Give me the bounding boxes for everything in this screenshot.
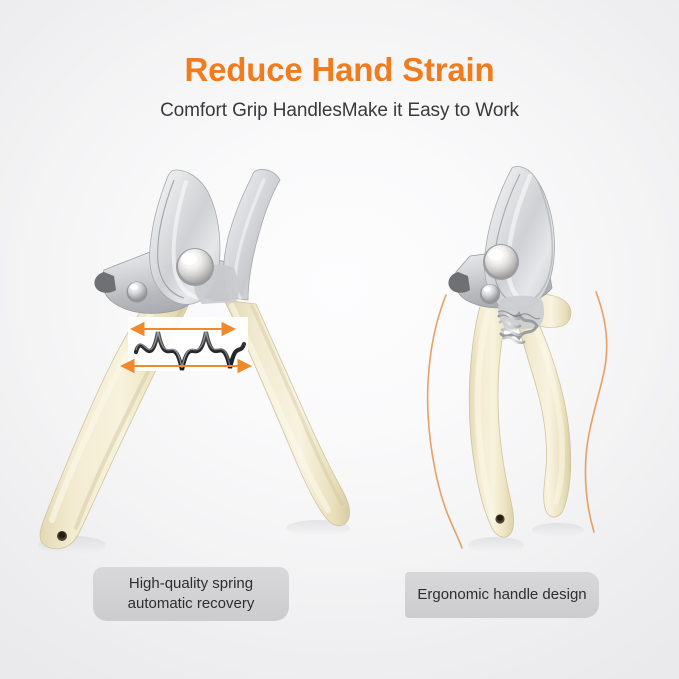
handle-right-lower <box>224 300 350 526</box>
shadow-closed-right <box>532 523 584 537</box>
page-title: Reduce Hand Strain <box>0 52 679 88</box>
spring-expanded <box>136 331 244 370</box>
contour-curve-left <box>428 295 462 548</box>
closed-handle-right-flare <box>522 294 571 328</box>
blade-hook-sheen <box>236 180 265 298</box>
heading-block: Reduce Hand Strain Comfort Grip HandlesM… <box>0 52 679 123</box>
shadow-left-handle <box>38 536 106 554</box>
blade-closed <box>485 166 555 309</box>
blade-main-sheen <box>174 182 200 298</box>
rivet-highlight-closed <box>483 286 490 292</box>
pivot-bolt-highlight <box>181 253 197 265</box>
shadow-right-handle <box>286 520 350 536</box>
rivet-ring-left <box>127 282 148 303</box>
lanyard-hole-inner <box>59 532 66 539</box>
contour-curve-right <box>585 292 606 532</box>
lanyard-hole-closed-inner <box>497 515 503 521</box>
jaw-body-closed <box>454 252 552 308</box>
jaw-hook-left <box>94 272 116 293</box>
closed-handle-right-highlight <box>530 312 562 502</box>
closed-handle-right <box>515 297 570 517</box>
shadow-closed-left <box>468 537 524 553</box>
caption-right: Ergonomic handle design <box>405 572 599 618</box>
closed-handle-left-highlight <box>477 312 494 520</box>
jaw-body-left <box>102 252 245 314</box>
lanyard-hole-left <box>57 531 67 541</box>
rivet-closed <box>482 285 499 302</box>
spring-callout-band <box>128 317 248 371</box>
rivet-left <box>128 282 146 300</box>
blade-closed-sheen <box>508 176 530 304</box>
pivot-bolt-highlight-closed <box>489 250 504 261</box>
blade-overlap-plate <box>194 265 239 304</box>
caption-right-line1: Ergonomic handle design <box>417 585 586 605</box>
rivet-ring-closed <box>480 284 500 304</box>
handle-left-shade <box>76 306 184 528</box>
caption-left: High-quality spring automatic recovery <box>93 567 289 621</box>
spring-compressed <box>498 311 540 343</box>
pruning-shears-closed <box>428 166 607 553</box>
blade-main-edge <box>158 180 184 298</box>
jaw-hook-closed <box>448 272 470 293</box>
blade-hook-left <box>224 169 280 300</box>
spring-expansion-arrows <box>122 329 250 366</box>
blade-closed-backedge <box>530 182 552 302</box>
caption-left-line1: High-quality spring <box>128 574 255 594</box>
page-subtitle: Comfort Grip HandlesMake it Easy to Work <box>0 100 679 123</box>
pivot-bolt <box>178 249 212 283</box>
handle-right-highlight <box>232 306 328 510</box>
pruning-shears-open <box>38 169 350 554</box>
closed-handle-left <box>469 293 513 537</box>
blade-main-left <box>150 170 220 304</box>
rivet-highlight-left <box>130 284 138 290</box>
handle-left-highlight <box>52 302 158 520</box>
pivot-bolt-ring <box>176 248 214 286</box>
caption-left-line2: automatic recovery <box>128 594 255 614</box>
handle-right-shade <box>252 306 342 504</box>
pivot-bolt-closed <box>485 245 517 277</box>
blade-closed-tongue <box>498 296 544 331</box>
lanyard-hole-closed <box>495 514 504 523</box>
blade-closed-edge <box>494 174 520 302</box>
pivot-bolt-ring-closed <box>483 244 519 280</box>
handle-left-lower <box>40 296 188 549</box>
product-infographic: Reduce Hand Strain Comfort Grip HandlesM… <box>0 0 679 679</box>
